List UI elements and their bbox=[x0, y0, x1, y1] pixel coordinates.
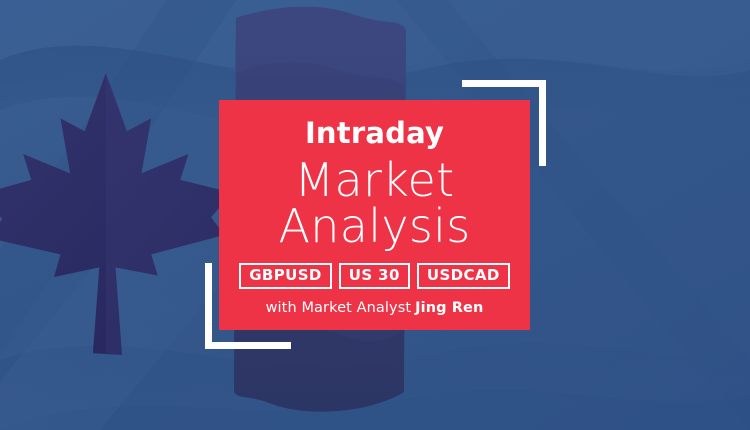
title-line-2: Analysis bbox=[279, 204, 471, 250]
title-line-1: Market bbox=[279, 158, 471, 204]
bracket-horizontal-bar bbox=[205, 342, 291, 349]
byline: with Market AnalystJing Ren bbox=[266, 300, 484, 316]
corner-bracket-top-right-icon bbox=[462, 80, 546, 166]
analyst-name: Jing Ren bbox=[415, 300, 483, 316]
bracket-horizontal-bar bbox=[462, 80, 546, 87]
bracket-vertical-bar bbox=[205, 263, 212, 349]
banner-canvas: Intraday Market Analysis GBPUSD US 30 US… bbox=[0, 0, 750, 430]
instrument-tag-usdcad[interactable]: USDCAD bbox=[417, 263, 510, 289]
corner-bracket-bottom-left-icon bbox=[205, 263, 291, 349]
kicker-text: Intraday bbox=[305, 119, 444, 148]
instrument-tag-us30[interactable]: US 30 bbox=[339, 263, 410, 289]
page-title: Market Analysis bbox=[279, 158, 471, 249]
bracket-vertical-bar bbox=[539, 80, 546, 166]
